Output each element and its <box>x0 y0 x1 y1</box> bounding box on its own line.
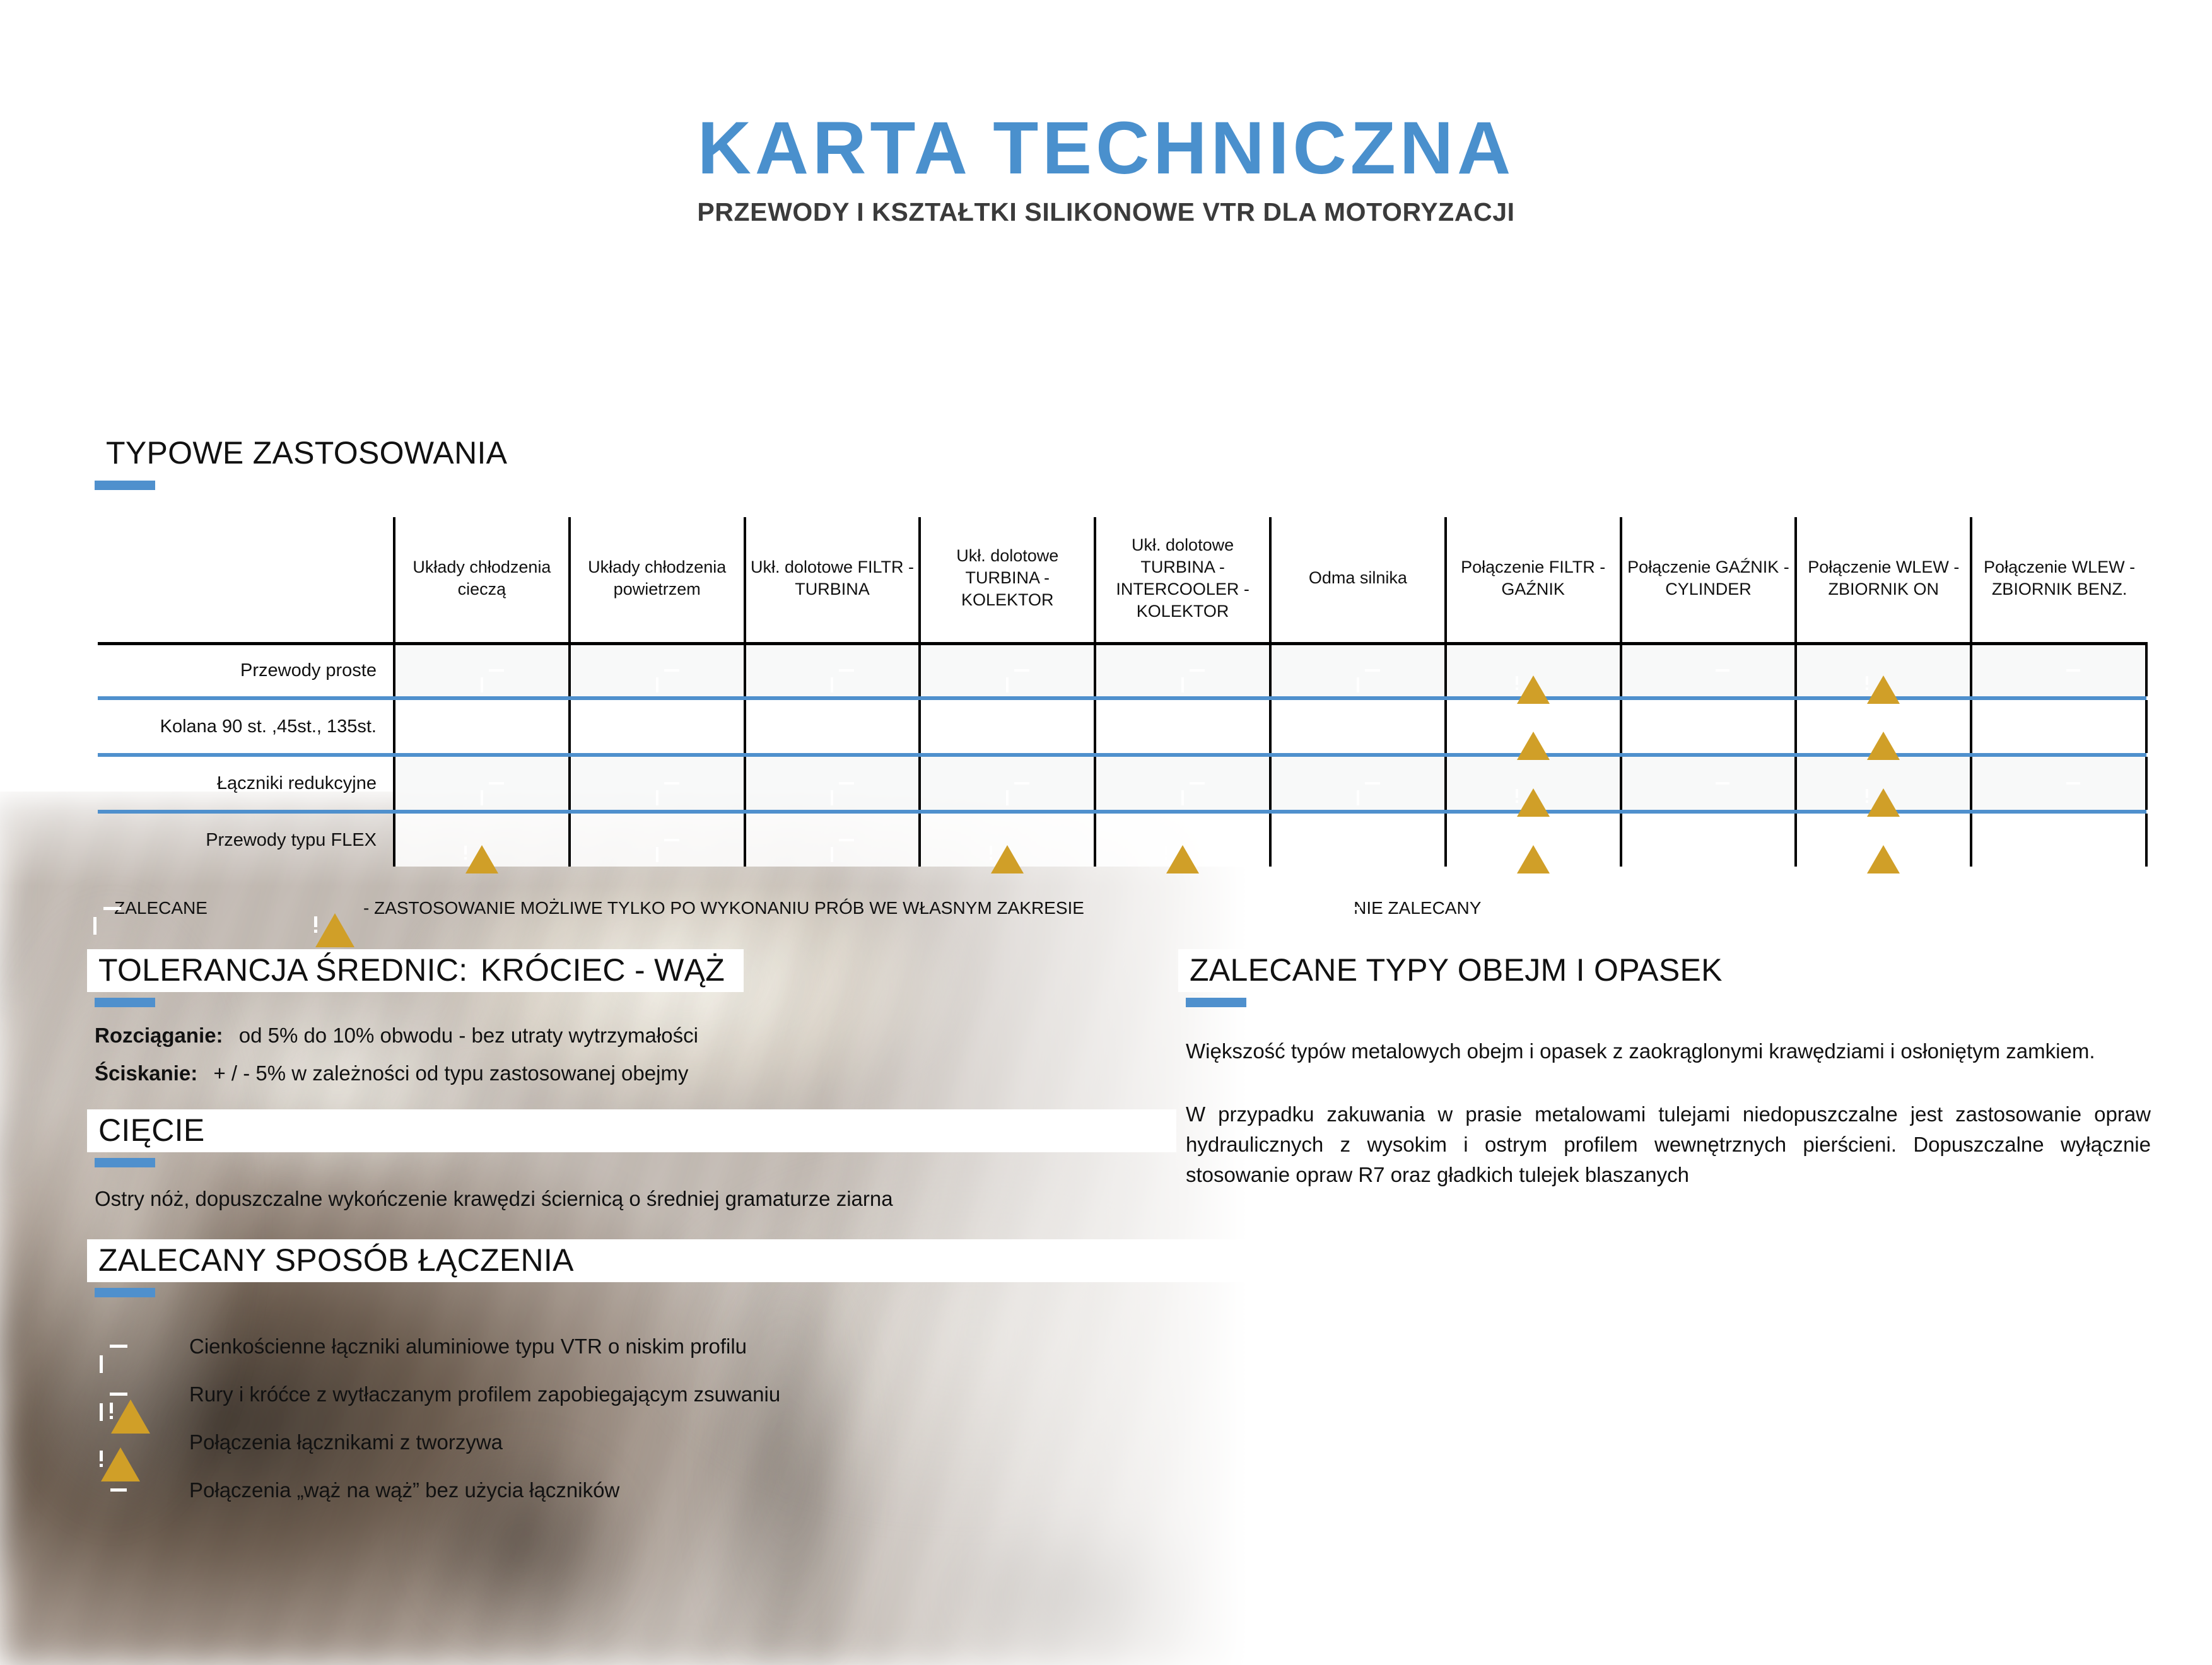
tolerance-row-stretch: Rozciąganie: od 5% do 10% obwodu - bez u… <box>95 1024 1129 1048</box>
tolerance-row-compress: Ściskanie: + / - 5% w zależności od typu… <box>95 1061 1129 1085</box>
matrix-cell <box>1446 814 1621 867</box>
list-item-label: Połączenia łącznikami z tworzywa <box>189 1430 503 1454</box>
matrix-cell <box>1270 643 1446 696</box>
left-column: TOLERANCJA ŚREDNIC: KRÓCIEC - WĄŻ Rozcią… <box>95 949 1129 1514</box>
list-item: Cienkościenne łączniki aluminiowe typu V… <box>95 1323 1129 1370</box>
joining-block: ZALECANY SPOSÓB ŁĄCZENIA Cienkościenne ł… <box>95 1239 1129 1514</box>
tolerance-stretch-key: Rozciąganie: <box>95 1024 223 1047</box>
legend-item-recommended: - ZALECANE <box>95 898 208 918</box>
matrix-cell <box>1621 814 1796 867</box>
matrix-cell <box>1971 643 2146 696</box>
matrix-cell <box>920 643 1095 696</box>
matrix-cell <box>920 757 1095 810</box>
table-row: Łączniki redukcyjne <box>98 757 2146 810</box>
matrix-cell <box>394 757 570 810</box>
col-header-odma-silnika: Odma silnika <box>1270 517 1446 643</box>
warning-icon <box>1867 778 1900 789</box>
matrix-cell <box>1971 757 2146 810</box>
clamps-paragraph-2: W przypadku zakuwania w prasie metalowam… <box>1186 1099 2151 1190</box>
tolerance-heading-band: TOLERANCJA ŚREDNIC: KRÓCIEC - WĄŻ <box>87 949 744 992</box>
list-item: Połączenia „wąż na wąż” bez użycia łączn… <box>95 1466 1129 1514</box>
table-row: Kolana 90 st. ,45st., 135st. <box>98 700 2146 753</box>
warning-icon <box>465 834 498 846</box>
clamps-paragraph-1: Większość typów metalowych obejm i opase… <box>1186 1036 2151 1066</box>
tolerance-heading-rule <box>95 998 155 1007</box>
row-label: Łączniki redukcyjne <box>98 757 394 810</box>
legend-label-conditional: - ZASTOSOWANIE MOŻLIWE TYLKO PO WYKONANI… <box>363 898 1084 918</box>
matrix-cell <box>1796 814 1971 867</box>
matrix-cell <box>920 700 1095 753</box>
matrix-cell <box>1446 700 1621 753</box>
matrix-corner-cell <box>98 517 394 643</box>
cutting-heading-band: CIĘCIE <box>87 1109 1176 1152</box>
matrix-cell <box>1095 757 1270 810</box>
matrix-legend: - ZALECANE - ZASTOSOWANIE MOŻLIWE TYLKO … <box>95 896 1608 940</box>
list-item-label: Rury i króćce z wytłaczanym profilem zap… <box>189 1382 780 1406</box>
applications-heading: TYPOWE ZASTOSOWANIA <box>95 432 526 490</box>
matrix-cell <box>570 643 745 696</box>
matrix-cell <box>1446 757 1621 810</box>
warning-icon <box>1867 721 1900 732</box>
page-title: KARTA TECHNICZNA <box>0 110 2212 186</box>
joining-list: Cienkościenne łączniki aluminiowe typu V… <box>95 1323 1129 1514</box>
matrix-cell <box>1095 700 1270 753</box>
matrix-cell <box>1446 643 1621 696</box>
list-item-icons <box>95 1437 189 1448</box>
cutting-heading-rule <box>95 1158 155 1167</box>
list-item: Rury i króćce z wytłaczanym profilem zap… <box>95 1370 1129 1418</box>
matrix-cell <box>1796 700 1971 753</box>
joining-heading-band: ZALECANY SPOSÓB ŁĄCZENIA <box>87 1239 1255 1282</box>
table-row: Przewody proste <box>98 643 2146 696</box>
cutting-heading-text: CIĘCIE <box>98 1113 205 1148</box>
matrix-cell <box>570 700 745 753</box>
matrix-cell <box>570 814 745 867</box>
col-header-gaznik-cylinder: Połączenie GAŹNIK - CYLINDER <box>1621 517 1796 643</box>
tolerance-stretch-value: od 5% do 10% obwodu - bez utraty wytrzym… <box>239 1024 698 1047</box>
col-header-uklady-chlodzenia-ciecza: Układy chłodzenia cieczą <box>394 517 570 643</box>
list-item-label: Połączenia „wąż na wąż” bez użycia łączn… <box>189 1478 619 1502</box>
legend-label-not-recommended: - NIE ZALECANY <box>1343 898 1481 918</box>
applications-matrix: Układy chłodzenia cieczą Układy chłodzen… <box>98 517 2148 867</box>
legend-item-conditional: - ZASTOSOWANIE MOŻLIWE TYLKO PO WYKONANI… <box>315 898 1084 918</box>
matrix-cell <box>1270 757 1446 810</box>
matrix-cell <box>570 757 745 810</box>
warning-icon <box>101 1437 140 1448</box>
applications-heading-rule <box>95 481 155 490</box>
applications-table-wrapper: Układy chłodzenia cieczą Układy chłodzen… <box>98 517 2148 867</box>
matrix-cell <box>394 700 570 753</box>
tolerance-block: TOLERANCJA ŚREDNIC: KRÓCIEC - WĄŻ Rozcią… <box>95 949 1129 1085</box>
warning-icon <box>991 834 1024 846</box>
list-item-label: Cienkościenne łączniki aluminiowe typu V… <box>189 1335 747 1358</box>
col-header-wlew-zbiornik-benz: Połączenie WLEW - ZBIORNIK BENZ. <box>1971 517 2146 643</box>
warning-icon <box>111 1389 150 1400</box>
matrix-cell <box>1971 814 2146 867</box>
warning-icon <box>1867 665 1900 676</box>
page-subtitle: PRZEWODY I KSZTAŁTKI SILIKONOWE VTR DLA … <box>0 197 2212 227</box>
clamps-heading-band: ZALECANE TYPY OBEJM I OPASEK <box>1178 949 2164 992</box>
tolerance-compress-key: Ściskanie: <box>95 1061 197 1085</box>
matrix-cell <box>745 643 920 696</box>
row-label: Przewody typu FLEX <box>98 814 394 867</box>
list-item-icons <box>95 1389 189 1400</box>
joining-heading-rule <box>95 1288 155 1297</box>
warning-icon <box>1517 721 1550 732</box>
tolerance-compress-value: + / - 5% w zależności od typu zastosowan… <box>213 1061 688 1085</box>
warning-icon <box>315 903 354 914</box>
applications-heading-text: TYPOWE ZASTOSOWANIA <box>106 435 507 470</box>
clamps-block: ZALECANE TYPY OBEJM I OPASEK Większość t… <box>1186 949 2151 1189</box>
row-label: Kolana 90 st. ,45st., 135st. <box>98 700 394 753</box>
list-item: Połączenia łącznikami z tworzywa <box>95 1418 1129 1466</box>
matrix-cell <box>394 814 570 867</box>
row-label: Przewody proste <box>98 643 394 696</box>
col-header-turbina-kolektor: Ukł. dolotowe TURBINA - KOLEKTOR <box>920 517 1095 643</box>
matrix-cell <box>745 814 920 867</box>
right-column: ZALECANE TYPY OBEJM I OPASEK Większość t… <box>1186 949 2151 1189</box>
legend-item-not-recommended: - NIE ZALECANY <box>1334 898 1481 918</box>
matrix-cell <box>920 814 1095 867</box>
joining-heading-text: ZALECANY SPOSÓB ŁĄCZENIA <box>98 1242 574 1278</box>
technical-data-sheet: KARTA TECHNICZNA PRZEWODY I KSZTAŁTKI SI… <box>0 110 2212 1665</box>
cutting-text: Ostry nóż, dopuszczalne wykończenie kraw… <box>95 1184 1091 1214</box>
clamps-heading-text: ZALECANE TYPY OBEJM I OPASEK <box>1190 952 1723 988</box>
warning-icon <box>1517 778 1550 789</box>
matrix-cell <box>394 643 570 696</box>
matrix-cell <box>1621 700 1796 753</box>
table-row: Przewody typu FLEX <box>98 814 2146 867</box>
matrix-cell <box>1796 757 1971 810</box>
matrix-cell <box>745 700 920 753</box>
matrix-cell <box>1621 757 1796 810</box>
warning-icon <box>1867 834 1900 846</box>
clamps-heading-rule <box>1186 998 1246 1007</box>
matrix-cell <box>745 757 920 810</box>
col-header-uklady-chlodzenia-powietrzem: Układy chłodzenia powietrzem <box>570 517 745 643</box>
matrix-header-row: Układy chłodzenia cieczą Układy chłodzen… <box>98 517 2146 643</box>
tolerance-heading-emphasis: KRÓCIEC - WĄŻ <box>481 952 725 988</box>
matrix-cell <box>1270 700 1446 753</box>
col-header-turbina-intercooler-kolektor: Ukł. dolotowe TURBINA - INTERCOOLER - KO… <box>1095 517 1270 643</box>
matrix-cell <box>1796 643 1971 696</box>
warning-icon <box>1166 834 1199 846</box>
warning-icon <box>1517 834 1550 846</box>
matrix-cell <box>1095 643 1270 696</box>
col-header-wlew-zbiornik-on: Połączenie WLEW - ZBIORNIK ON <box>1796 517 1971 643</box>
applications-heading-band: TYPOWE ZASTOSOWANIA <box>95 432 526 475</box>
matrix-cell <box>1270 814 1446 867</box>
matrix-body: Przewody prosteKolana 90 st. ,45st., 135… <box>98 643 2146 867</box>
matrix-cell <box>1095 814 1270 867</box>
matrix-cell <box>1971 700 2146 753</box>
cutting-block: CIĘCIE Ostry nóż, dopuszczalne wykończen… <box>95 1109 1129 1214</box>
matrix-cell <box>1621 643 1796 696</box>
col-header-filtr-gaznik: Połączenie FILTR - GAŹNIK <box>1446 517 1621 643</box>
col-header-filtr-turbina: Ukł. dolotowe FILTR - TURBINA <box>745 517 920 643</box>
warning-icon <box>1517 665 1550 676</box>
tolerance-heading-text: TOLERANCJA ŚREDNIC: <box>98 952 467 988</box>
